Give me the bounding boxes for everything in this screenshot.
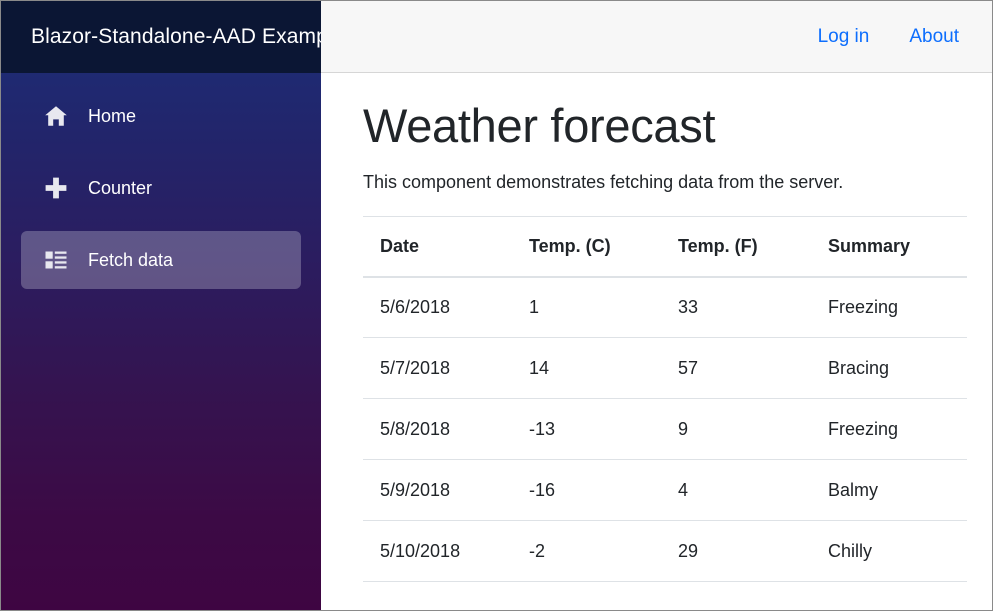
sidebar-item-label: Counter — [88, 178, 152, 199]
cell-temp-c: -2 — [512, 521, 661, 582]
cell-temp-c: -16 — [512, 460, 661, 521]
cell-date: 5/10/2018 — [363, 521, 512, 582]
cell-date: 5/8/2018 — [363, 399, 512, 460]
cell-summary: Freezing — [811, 399, 967, 460]
cell-temp-f: 9 — [661, 399, 811, 460]
table-header: Date Temp. (C) Temp. (F) Summary — [363, 217, 967, 277]
cell-temp-f: 29 — [661, 521, 811, 582]
sidebar: Blazor-Standalone-AAD Example Home Count… — [1, 1, 321, 611]
list-rich-icon — [43, 247, 69, 273]
weather-forecast-table: Date Temp. (C) Temp. (F) Summary 5/6/201… — [363, 216, 967, 582]
cell-summary: Chilly — [811, 521, 967, 582]
table-row: 5/9/2018 -16 4 Balmy — [363, 460, 967, 521]
cell-temp-f: 4 — [661, 460, 811, 521]
cell-summary: Balmy — [811, 460, 967, 521]
cell-temp-c: 1 — [512, 277, 661, 338]
cell-temp-f: 33 — [661, 277, 811, 338]
table-row: 5/7/2018 14 57 Bracing — [363, 338, 967, 399]
sidebar-item-fetch-data[interactable]: Fetch data — [21, 231, 301, 289]
table-row: 5/10/2018 -2 29 Chilly — [363, 521, 967, 582]
sidebar-item-label: Home — [88, 106, 136, 127]
brand-title: Blazor-Standalone-AAD Example — [1, 25, 321, 49]
cell-temp-f: 57 — [661, 338, 811, 399]
column-header-summary: Summary — [811, 217, 967, 277]
cell-temp-c: -13 — [512, 399, 661, 460]
cell-summary: Bracing — [811, 338, 967, 399]
topbar: Log in About — [321, 1, 992, 73]
main-content: Weather forecast This component demonstr… — [321, 74, 992, 611]
column-header-temp-f: Temp. (F) — [661, 217, 811, 277]
sidebar-item-home[interactable]: Home — [21, 87, 301, 145]
brand-header[interactable]: Blazor-Standalone-AAD Example — [1, 1, 321, 73]
cell-summary: Freezing — [811, 277, 967, 338]
table-row: 5/6/2018 1 33 Freezing — [363, 277, 967, 338]
cell-temp-c: 14 — [512, 338, 661, 399]
about-link[interactable]: About — [909, 26, 959, 48]
home-icon — [43, 103, 69, 129]
column-header-date: Date — [363, 217, 512, 277]
sidebar-item-counter[interactable]: Counter — [21, 159, 301, 217]
table-header-row: Date Temp. (C) Temp. (F) Summary — [363, 217, 967, 277]
column-header-temp-c: Temp. (C) — [512, 217, 661, 277]
login-link[interactable]: Log in — [818, 26, 870, 48]
cell-date: 5/7/2018 — [363, 338, 512, 399]
cell-date: 5/9/2018 — [363, 460, 512, 521]
cell-date: 5/6/2018 — [363, 277, 512, 338]
page-subtitle: This component demonstrates fetching dat… — [363, 170, 964, 194]
page-title: Weather forecast — [363, 98, 964, 154]
sidebar-nav: Home Counter — [1, 73, 321, 303]
table-body: 5/6/2018 1 33 Freezing 5/7/2018 14 57 Br… — [363, 277, 967, 582]
table-row: 5/8/2018 -13 9 Freezing — [363, 399, 967, 460]
sidebar-item-label: Fetch data — [88, 250, 173, 271]
app-window: Blazor-Standalone-AAD Example Home Count… — [0, 0, 993, 611]
plus-icon — [43, 175, 69, 201]
